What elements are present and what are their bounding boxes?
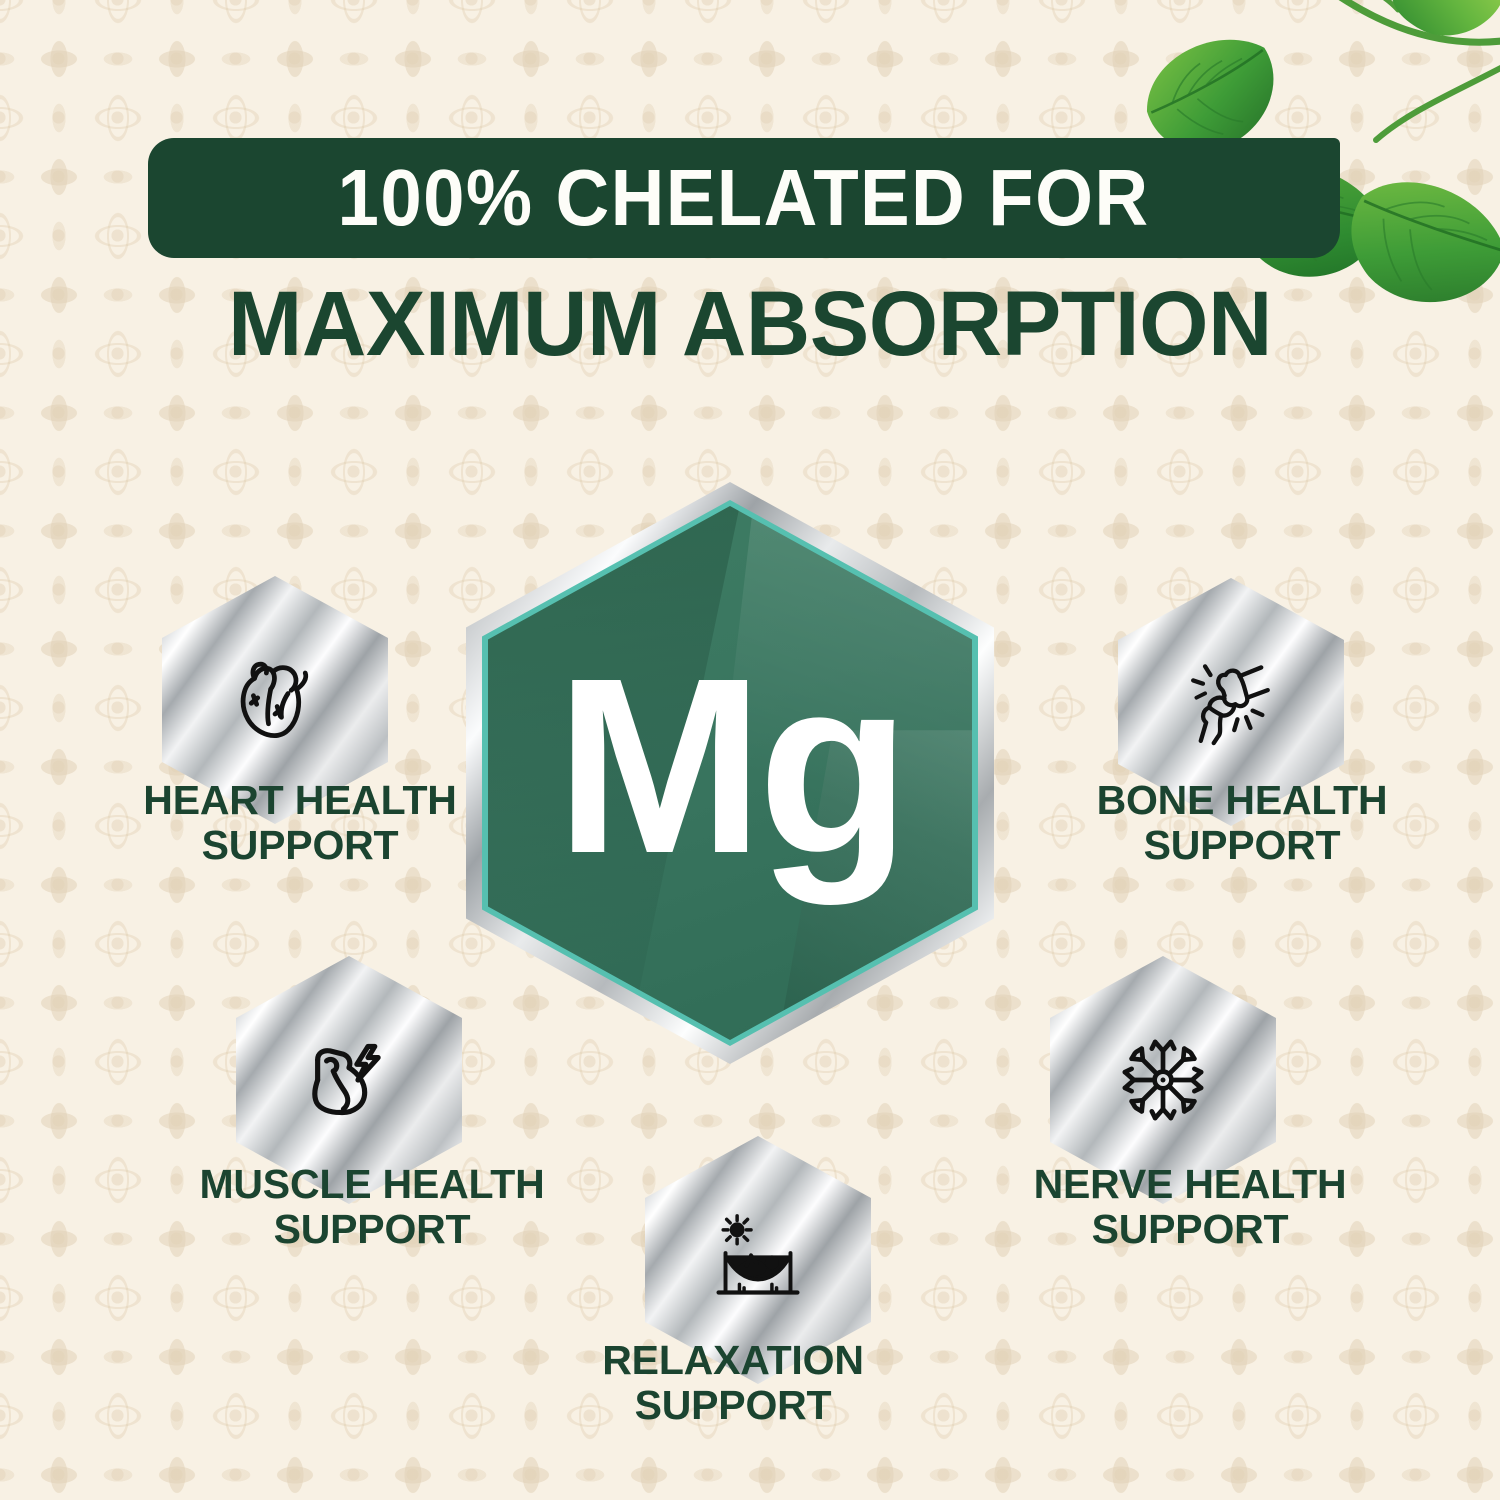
benefit-label-bone: BONE HEALTH SUPPORT [962,778,1500,868]
banner-headline-text: 100% CHELATED FOR [338,158,1150,238]
headline-banner: 100% CHELATED FOR [148,138,1340,258]
mg-symbol-text: Mg [466,482,994,1064]
benefit-label-muscle: MUSCLE HEALTH SUPPORT [72,1162,672,1252]
sub-headline-text: MAXIMUM ABSORPTION [23,278,1478,370]
benefit-label-relaxation: RELAXATION SUPPORT [448,1338,1018,1428]
infographic-canvas: 100% CHELATED FOR MAXIMUM ABSORPTION Mg [0,0,1500,1500]
mg-element-badge: Mg [466,482,994,1064]
benefit-label-nerve: NERVE HEALTH SUPPORT [890,1162,1490,1252]
